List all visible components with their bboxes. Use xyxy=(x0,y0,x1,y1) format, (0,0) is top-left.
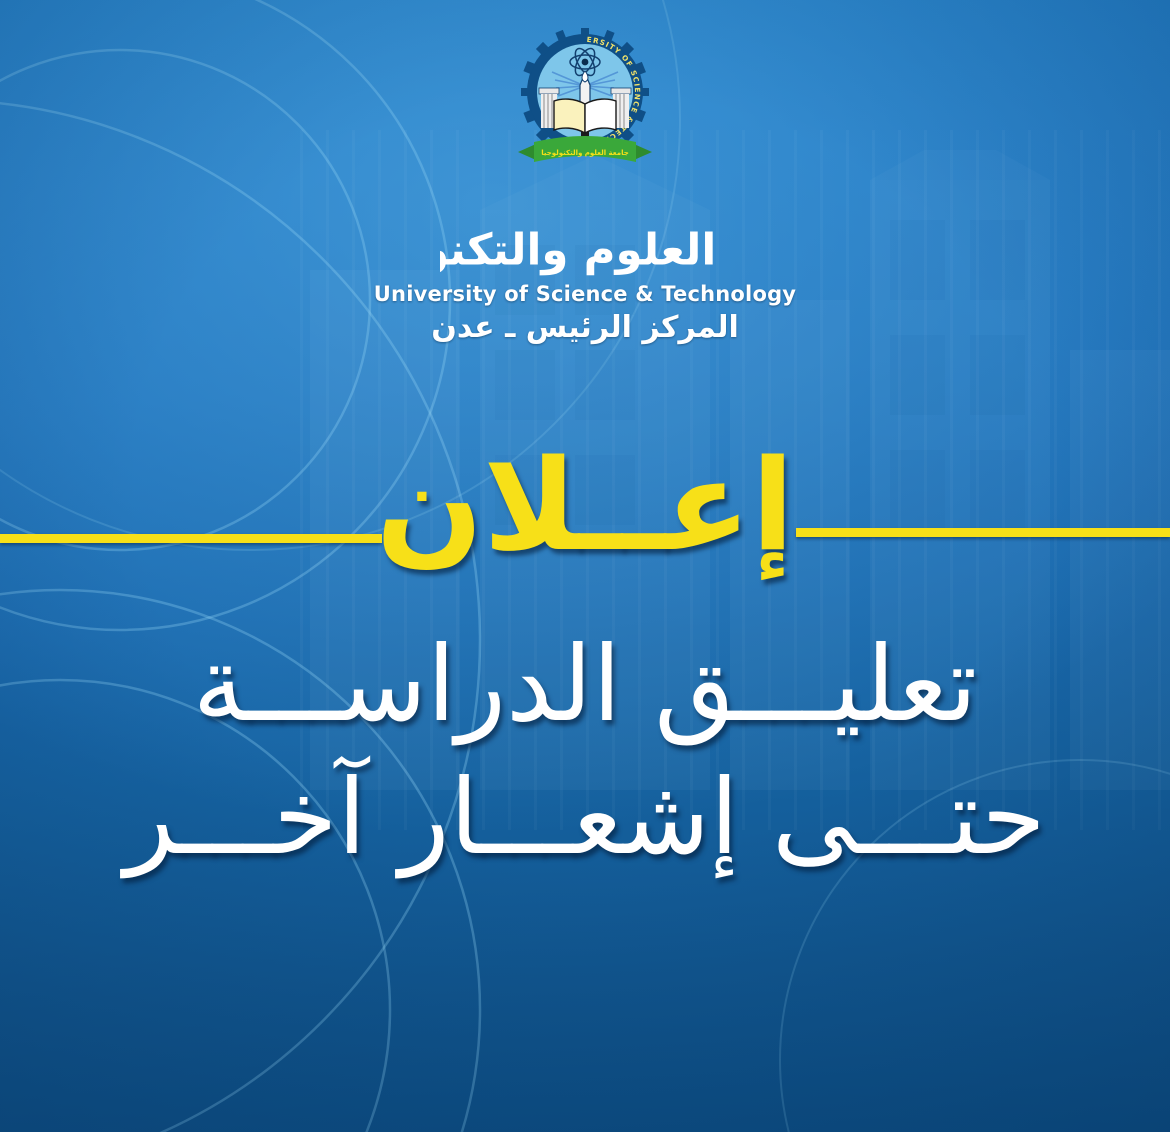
svg-text:جامعة العلوم والتكنولوجيا: جامعة العلوم والتكنولوجيا xyxy=(541,149,629,157)
university-emblem-icon: UNIVERSITY OF SCIENCE & TECHNOLOGY xyxy=(510,26,660,178)
wordmark-english: University of Science & Technology xyxy=(374,282,796,306)
announcement-line-2: حتـــى إشعـــار آخـــر xyxy=(0,751,1170,884)
wordmark-arabic-text: جامعة العلوم والتكنولوجيا xyxy=(440,226,730,276)
announcement-poster: UNIVERSITY OF SCIENCE & TECHNOLOGY xyxy=(0,0,1170,1132)
wordmark-arabic: جامعة العلوم والتكنولوجيا xyxy=(440,222,730,280)
branch-name: المركز الرئيس ـ عدن xyxy=(431,310,739,345)
headline-announcement: إعــلان xyxy=(0,443,1170,569)
announcement-body: تعليـــق الدراســـة حتـــى إشعـــار آخــ… xyxy=(0,618,1170,884)
announcement-line-1: تعليـــق الدراســـة xyxy=(0,618,1170,751)
logo-header: UNIVERSITY OF SCIENCE & TECHNOLOGY xyxy=(0,26,1170,345)
